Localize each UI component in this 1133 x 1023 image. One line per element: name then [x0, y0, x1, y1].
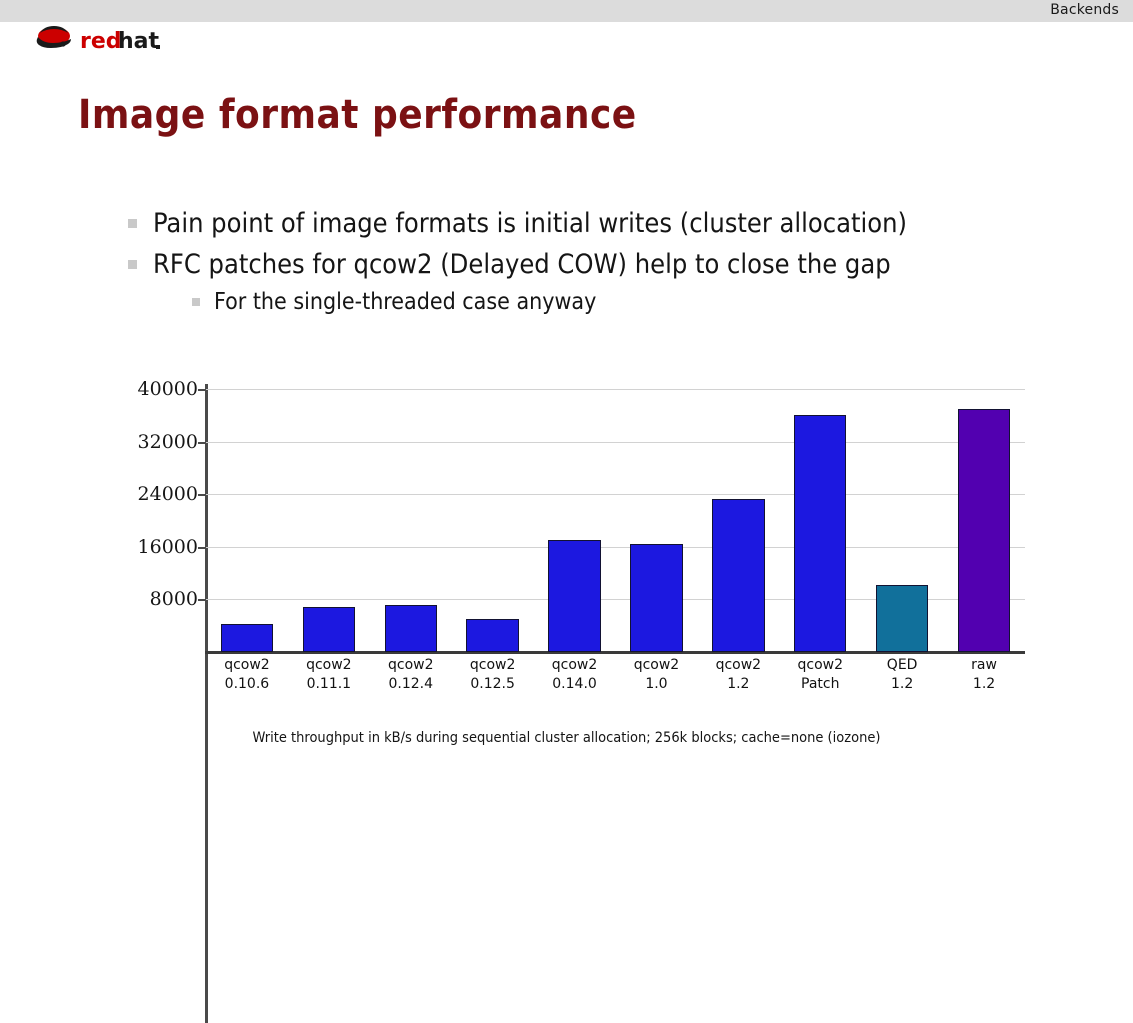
x-tick-label-line2: 0.14.0 [534, 675, 616, 694]
gridline [206, 494, 1025, 495]
bullet-list: Pain point of image formats is initial w… [128, 206, 1088, 323]
x-tick-label-line2: 1.2 [697, 675, 779, 694]
plot-area [206, 389, 1025, 652]
x-tick-label: qcow20.14.0 [534, 656, 616, 695]
x-tick-label-line2: 1.0 [616, 675, 698, 694]
y-tick-label: 8000 [106, 588, 198, 610]
x-axis-tick-labels: qcow20.10.6qcow20.11.1qcow20.12.4qcow20.… [206, 656, 1025, 716]
bar [958, 409, 1010, 652]
x-tick-label-line2: 0.11.1 [288, 675, 370, 694]
y-tick-mark [198, 389, 206, 391]
y-tick-mark [198, 547, 206, 549]
x-tick-label-line1: qcow2 [779, 656, 861, 675]
x-tick-label-line2: 1.2 [861, 675, 943, 694]
bullet-text: Pain point of image formats is initial w… [153, 206, 907, 242]
bullet-square-icon [192, 298, 200, 306]
list-item: Pain point of image formats is initial w… [128, 206, 1088, 242]
x-tick-label: qcow20.12.5 [452, 656, 534, 695]
y-tick-label: 24000 [106, 483, 198, 505]
bar [712, 499, 764, 652]
bar [385, 605, 437, 652]
x-tick-label: qcow20.10.6 [206, 656, 288, 695]
x-tick-label-line1: qcow2 [288, 656, 370, 675]
x-tick-label-line1: qcow2 [206, 656, 288, 675]
x-tick-label: qcow2Patch [779, 656, 861, 695]
redhat-logo: red hat [30, 22, 190, 58]
x-tick-label: qcow20.12.4 [370, 656, 452, 695]
bar [466, 619, 518, 652]
y-tick-mark [198, 599, 206, 601]
x-tick-label: QED1.2 [861, 656, 943, 695]
x-tick-label-line1: qcow2 [370, 656, 452, 675]
x-tick-label-line2: 0.12.4 [370, 675, 452, 694]
bullet-square-icon [128, 219, 137, 228]
list-item: RFC patches for qcow2 (Delayed COW) help… [128, 247, 1088, 283]
x-tick-label: raw1.2 [943, 656, 1025, 695]
y-axis-tick-labels: 800016000240003200040000 [106, 389, 198, 652]
logo-word-hat: hat [118, 29, 160, 54]
bar-chart: 800016000240003200040000 qcow20.10.6qcow… [0, 370, 1133, 770]
header-band [0, 0, 1133, 22]
section-label: Backends [1050, 2, 1119, 18]
gridline [206, 442, 1025, 443]
x-tick-label-line1: QED [861, 656, 943, 675]
y-tick-label: 32000 [106, 431, 198, 453]
y-tick-mark [198, 494, 206, 496]
y-tick-label: 40000 [106, 378, 198, 400]
x-tick-label-line2: 0.10.6 [206, 675, 288, 694]
bar [548, 540, 600, 652]
x-tick-label-line1: qcow2 [452, 656, 534, 675]
x-tick-label: qcow20.11.1 [288, 656, 370, 695]
bullet-square-icon [128, 260, 137, 269]
x-tick-label-line1: qcow2 [697, 656, 779, 675]
bar [221, 624, 273, 652]
gridline [206, 547, 1025, 548]
bullet-text: RFC patches for qcow2 (Delayed COW) help… [153, 247, 891, 283]
y-tick-mark [198, 442, 206, 444]
logo-word-red: red [80, 29, 122, 54]
x-tick-label: qcow21.2 [697, 656, 779, 695]
bullet-text: For the single-threaded case anyway [214, 287, 596, 317]
gridline [206, 389, 1025, 390]
x-tick-label-line2: 1.2 [943, 675, 1025, 694]
bar [876, 585, 928, 652]
x-tick-label-line2: Patch [779, 675, 861, 694]
x-tick-label: qcow21.0 [616, 656, 698, 695]
x-tick-label-line1: qcow2 [616, 656, 698, 675]
chart-caption: Write throughput in kB/s during sequenti… [0, 730, 1133, 746]
bar [303, 607, 355, 652]
x-tick-label-line1: qcow2 [534, 656, 616, 675]
page-title: Image format performance [78, 92, 637, 138]
bar [630, 544, 682, 652]
bar [794, 415, 846, 652]
list-item: For the single-threaded case anyway [192, 287, 1088, 317]
x-tick-label-line2: 0.12.5 [452, 675, 534, 694]
shadowman-icon [37, 26, 71, 48]
x-tick-label-line1: raw [943, 656, 1025, 675]
y-tick-label: 16000 [106, 536, 198, 558]
